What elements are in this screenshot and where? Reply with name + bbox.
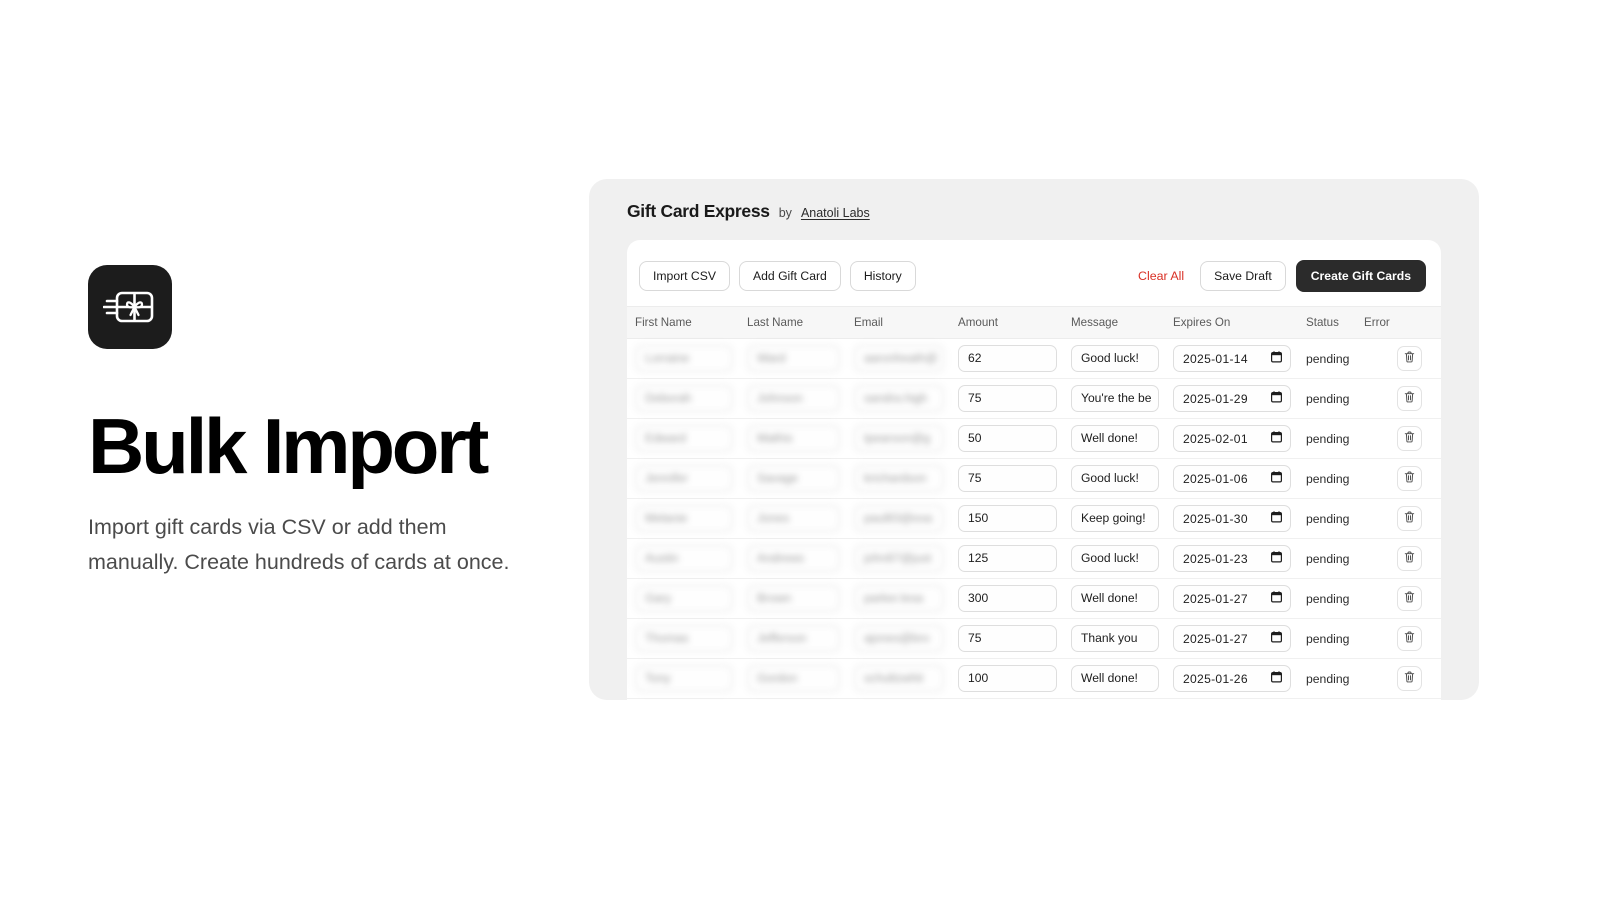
status-badge: pending xyxy=(1306,392,1349,406)
table-row: Lorraine Ward aaronheath@ 62 Good luck! … xyxy=(627,339,1441,379)
cell-message: You're the be xyxy=(1063,379,1165,419)
clear-all-button[interactable]: Clear All xyxy=(1132,262,1190,290)
last-name-input[interactable]: Jones xyxy=(747,505,840,532)
email-input[interactable]: tpearson@g xyxy=(854,425,944,452)
cell-message: Well done! xyxy=(1063,419,1165,459)
cell-error xyxy=(1356,579,1441,619)
email-input[interactable]: schultzwhit xyxy=(854,665,944,692)
cell-last-name: Ward xyxy=(739,339,846,379)
column-header-error: Error xyxy=(1356,307,1441,339)
expires-on-value: 2025-01-06 xyxy=(1183,472,1248,486)
email-input[interactable]: aaronheath@ xyxy=(854,345,944,372)
cell-amount: 75 xyxy=(950,459,1063,499)
last-name-input[interactable]: Brown xyxy=(747,585,840,612)
cell-expires-on: 2025-01-27 xyxy=(1165,579,1298,619)
cell-message: Thank you xyxy=(1063,619,1165,659)
expires-on-date-input[interactable]: 2025-01-06 xyxy=(1173,465,1291,492)
delete-row-button[interactable] xyxy=(1397,466,1422,491)
gift-card-panel: Import CSV Add Gift Card History Clear A… xyxy=(627,240,1441,700)
cell-first-name: Jennifer xyxy=(627,459,739,499)
message-input[interactable]: Well done! xyxy=(1071,425,1159,452)
first-name-input[interactable]: Thomas xyxy=(635,625,733,652)
cell-error xyxy=(1356,339,1441,379)
email-input[interactable]: john87@just xyxy=(854,545,944,572)
first-name-input[interactable]: Lorraine xyxy=(635,345,733,372)
table-body: Lorraine Ward aaronheath@ 62 Good luck! … xyxy=(627,339,1441,699)
message-input[interactable]: Good luck! xyxy=(1071,465,1159,492)
add-gift-card-button[interactable]: Add Gift Card xyxy=(739,261,841,291)
app-by-label: by xyxy=(779,206,792,220)
trash-icon xyxy=(1404,390,1415,408)
delete-row-button[interactable] xyxy=(1397,506,1422,531)
toolbar-left-group: Import CSV Add Gift Card History xyxy=(639,261,916,291)
expires-on-date-input[interactable]: 2025-01-30 xyxy=(1173,505,1291,532)
cell-status: pending xyxy=(1298,579,1356,619)
table-header-row: First Name Last Name Email Amount Messag… xyxy=(627,307,1441,339)
cell-expires-on: 2025-01-23 xyxy=(1165,539,1298,579)
trash-icon xyxy=(1404,510,1415,528)
cell-first-name: Lorraine xyxy=(627,339,739,379)
cell-last-name: Mathis xyxy=(739,419,846,459)
cell-expires-on: 2025-02-01 xyxy=(1165,419,1298,459)
cell-error xyxy=(1356,659,1441,699)
expires-on-date-input[interactable]: 2025-01-27 xyxy=(1173,625,1291,652)
cell-amount: 150 xyxy=(950,499,1063,539)
cell-email: tpearson@g xyxy=(846,419,950,459)
expires-on-date-input[interactable]: 2025-01-27 xyxy=(1173,585,1291,612)
cell-message: Good luck! xyxy=(1063,459,1165,499)
calendar-icon[interactable] xyxy=(1271,431,1282,446)
toolbar-right-group: Clear All Save Draft Create Gift Cards xyxy=(1132,260,1426,292)
status-badge: pending xyxy=(1306,552,1349,566)
delete-row-button[interactable] xyxy=(1397,346,1422,371)
cell-last-name: Johnson xyxy=(739,379,846,419)
cell-message: Well done! xyxy=(1063,659,1165,699)
delete-row-button[interactable] xyxy=(1397,386,1422,411)
delete-row-button[interactable] xyxy=(1397,626,1422,651)
column-header-email: Email xyxy=(846,307,950,339)
expires-on-value: 2025-01-23 xyxy=(1183,552,1248,566)
cell-status: pending xyxy=(1298,379,1356,419)
trash-icon xyxy=(1404,350,1415,368)
page-description: Import gift cards via CSV or add them ma… xyxy=(88,510,518,580)
cell-amount: 75 xyxy=(950,379,1063,419)
import-csv-button[interactable]: Import CSV xyxy=(639,261,730,291)
cell-email: john87@just xyxy=(846,539,950,579)
status-badge: pending xyxy=(1306,632,1349,646)
cell-expires-on: 2025-01-14 xyxy=(1165,339,1298,379)
message-input[interactable]: Thank you xyxy=(1071,625,1159,652)
cell-first-name: Thomas xyxy=(627,619,739,659)
expires-on-value: 2025-01-29 xyxy=(1183,392,1248,406)
cell-message: Good luck! xyxy=(1063,539,1165,579)
last-name-input[interactable]: Andrews xyxy=(747,545,840,572)
amount-input[interactable]: 125 xyxy=(958,545,1057,572)
cell-status: pending xyxy=(1298,339,1356,379)
calendar-icon[interactable] xyxy=(1271,391,1282,406)
email-input[interactable]: sandra.high xyxy=(854,385,944,412)
table-row: Edward Mathis tpearson@g 50 Well done! 2… xyxy=(627,419,1441,459)
message-input[interactable]: Good luck! xyxy=(1071,345,1159,372)
cell-status: pending xyxy=(1298,419,1356,459)
history-button[interactable]: History xyxy=(850,261,916,291)
calendar-icon[interactable] xyxy=(1271,511,1282,526)
save-draft-button[interactable]: Save Draft xyxy=(1200,261,1286,291)
table-row: Jennifer Savage krichardson 75 Good luck… xyxy=(627,459,1441,499)
calendar-icon[interactable] xyxy=(1271,471,1282,486)
message-input[interactable]: You're the be xyxy=(1071,385,1159,412)
cell-amount: 50 xyxy=(950,419,1063,459)
last-name-input[interactable]: Jefferson xyxy=(747,625,840,652)
message-input[interactable]: Well done! xyxy=(1071,665,1159,692)
amount-input[interactable]: 100 xyxy=(958,665,1057,692)
last-name-input[interactable]: Johnson xyxy=(747,385,840,412)
last-name-input[interactable]: Gordon xyxy=(747,665,840,692)
status-badge: pending xyxy=(1306,352,1349,366)
cell-status: pending xyxy=(1298,459,1356,499)
trash-icon xyxy=(1404,430,1415,448)
email-input[interactable]: ajones@bro xyxy=(854,625,944,652)
amount-input[interactable]: 75 xyxy=(958,385,1057,412)
table-row: Tony Gordon schultzwhit 100 Well done! 2… xyxy=(627,659,1441,699)
table-header: First Name Last Name Email Amount Messag… xyxy=(627,307,1441,339)
table-row: Deborah Johnson sandra.high 75 You're th… xyxy=(627,379,1441,419)
cell-last-name: Brown xyxy=(739,579,846,619)
app-header: Gift Card Express by Anatoli Labs xyxy=(589,179,1479,239)
cell-email: sandra.high xyxy=(846,379,950,419)
column-header-amount: Amount xyxy=(950,307,1063,339)
last-name-input[interactable]: Savage xyxy=(747,465,840,492)
app-window: Gift Card Express by Anatoli Labs Import… xyxy=(589,179,1479,700)
first-name-input[interactable]: Gary xyxy=(635,585,733,612)
calendar-icon[interactable] xyxy=(1271,351,1282,366)
amount-input[interactable]: 62 xyxy=(958,345,1057,372)
cell-first-name: Tony xyxy=(627,659,739,699)
delete-row-button[interactable] xyxy=(1397,546,1422,571)
email-input[interactable]: krichardson xyxy=(854,465,944,492)
cell-last-name: Savage xyxy=(739,459,846,499)
trash-icon xyxy=(1404,670,1415,688)
cell-first-name: Gary xyxy=(627,579,739,619)
expires-on-value: 2025-02-01 xyxy=(1183,432,1248,446)
cell-email: aaronheath@ xyxy=(846,339,950,379)
cell-email: schultzwhit xyxy=(846,659,950,699)
cell-first-name: Deborah xyxy=(627,379,739,419)
column-header-last-name: Last Name xyxy=(739,307,846,339)
create-gift-cards-button[interactable]: Create Gift Cards xyxy=(1296,260,1426,292)
first-name-input[interactable]: Tony xyxy=(635,665,733,692)
cell-message: Good luck! xyxy=(1063,339,1165,379)
expires-on-date-input[interactable]: 2025-01-23 xyxy=(1173,545,1291,572)
cell-status: pending xyxy=(1298,659,1356,699)
status-badge: pending xyxy=(1306,432,1349,446)
cell-email: ajones@bro xyxy=(846,619,950,659)
expires-on-value: 2025-01-27 xyxy=(1183,592,1248,606)
trash-icon xyxy=(1404,590,1415,608)
amount-input[interactable]: 75 xyxy=(958,625,1057,652)
panel-toolbar: Import CSV Add Gift Card History Clear A… xyxy=(627,240,1441,306)
cell-first-name: Melanie xyxy=(627,499,739,539)
trash-icon xyxy=(1404,470,1415,488)
expires-on-value: 2025-01-30 xyxy=(1183,512,1248,526)
message-input[interactable]: Well done! xyxy=(1071,585,1159,612)
amount-input[interactable]: 300 xyxy=(958,585,1057,612)
column-header-message: Message xyxy=(1063,307,1165,339)
cell-email: parker.lesa xyxy=(846,579,950,619)
page-title: Bulk Import xyxy=(88,409,558,484)
first-name-input[interactable]: Melanie xyxy=(635,505,733,532)
expires-on-value: 2025-01-14 xyxy=(1183,352,1248,366)
column-header-first-name: First Name xyxy=(627,307,739,339)
gift-card-icon xyxy=(88,265,172,349)
cell-error xyxy=(1356,419,1441,459)
cell-last-name: Jefferson xyxy=(739,619,846,659)
hero-section: Bulk Import Import gift cards via CSV or… xyxy=(88,265,558,580)
expires-on-value: 2025-01-26 xyxy=(1183,672,1248,686)
cell-error xyxy=(1356,459,1441,499)
expires-on-date-input[interactable]: 2025-01-14 xyxy=(1173,345,1291,372)
message-input[interactable]: Keep going! xyxy=(1071,505,1159,532)
expires-on-date-input[interactable]: 2025-02-01 xyxy=(1173,425,1291,452)
gift-cards-table: First Name Last Name Email Amount Messag… xyxy=(627,306,1441,699)
amount-input[interactable]: 150 xyxy=(958,505,1057,532)
cell-amount: 100 xyxy=(950,659,1063,699)
calendar-icon[interactable] xyxy=(1271,671,1282,686)
status-badge: pending xyxy=(1306,472,1349,486)
amount-input[interactable]: 50 xyxy=(958,425,1057,452)
email-input[interactable]: parker.lesa xyxy=(854,585,944,612)
trash-icon xyxy=(1404,550,1415,568)
cell-expires-on: 2025-01-06 xyxy=(1165,459,1298,499)
last-name-input[interactable]: Mathis xyxy=(747,425,840,452)
cell-error xyxy=(1356,619,1441,659)
cell-expires-on: 2025-01-29 xyxy=(1165,379,1298,419)
expires-on-date-input[interactable]: 2025-01-26 xyxy=(1173,665,1291,692)
cell-status: pending xyxy=(1298,619,1356,659)
cell-last-name: Andrews xyxy=(739,539,846,579)
cell-error xyxy=(1356,539,1441,579)
delete-row-button[interactable] xyxy=(1397,666,1422,691)
cell-email: paul83@exa xyxy=(846,499,950,539)
cell-message: Well done! xyxy=(1063,579,1165,619)
expires-on-value: 2025-01-27 xyxy=(1183,632,1248,646)
last-name-input[interactable]: Ward xyxy=(747,345,840,372)
page-root: Bulk Import Import gift cards via CSV or… xyxy=(0,0,1600,900)
app-name: Gift Card Express xyxy=(627,201,770,222)
cell-message: Keep going! xyxy=(1063,499,1165,539)
calendar-icon[interactable] xyxy=(1271,591,1282,606)
cell-first-name: Austin xyxy=(627,539,739,579)
cell-expires-on: 2025-01-30 xyxy=(1165,499,1298,539)
column-header-status: Status xyxy=(1298,307,1356,339)
message-input[interactable]: Good luck! xyxy=(1071,545,1159,572)
column-header-expires-on: Expires On xyxy=(1165,307,1298,339)
status-badge: pending xyxy=(1306,512,1349,526)
delete-row-button[interactable] xyxy=(1397,586,1422,611)
cell-amount: 125 xyxy=(950,539,1063,579)
cell-amount: 75 xyxy=(950,619,1063,659)
first-name-input[interactable]: Edward xyxy=(635,425,733,452)
cell-expires-on: 2025-01-27 xyxy=(1165,619,1298,659)
first-name-input[interactable]: Austin xyxy=(635,545,733,572)
app-vendor-link[interactable]: Anatoli Labs xyxy=(801,206,870,220)
expires-on-date-input[interactable]: 2025-01-29 xyxy=(1173,385,1291,412)
cell-status: pending xyxy=(1298,499,1356,539)
cell-expires-on: 2025-01-26 xyxy=(1165,659,1298,699)
cell-error xyxy=(1356,379,1441,419)
table-row: Gary Brown parker.lesa 300 Well done! 20… xyxy=(627,579,1441,619)
calendar-icon[interactable] xyxy=(1271,551,1282,566)
table-row: Austin Andrews john87@just 125 Good luck… xyxy=(627,539,1441,579)
delete-row-button[interactable] xyxy=(1397,426,1422,451)
calendar-icon[interactable] xyxy=(1271,631,1282,646)
email-input[interactable]: paul83@exa xyxy=(854,505,944,532)
first-name-input[interactable]: Deborah xyxy=(635,385,733,412)
cell-last-name: Jones xyxy=(739,499,846,539)
table-row: Thomas Jefferson ajones@bro 75 Thank you… xyxy=(627,619,1441,659)
cell-status: pending xyxy=(1298,539,1356,579)
cell-amount: 300 xyxy=(950,579,1063,619)
table-row: Melanie Jones paul83@exa 150 Keep going!… xyxy=(627,499,1441,539)
status-badge: pending xyxy=(1306,672,1349,686)
status-badge: pending xyxy=(1306,592,1349,606)
cell-last-name: Gordon xyxy=(739,659,846,699)
cell-error xyxy=(1356,499,1441,539)
amount-input[interactable]: 75 xyxy=(958,465,1057,492)
trash-icon xyxy=(1404,630,1415,648)
cell-amount: 62 xyxy=(950,339,1063,379)
first-name-input[interactable]: Jennifer xyxy=(635,465,733,492)
cell-first-name: Edward xyxy=(627,419,739,459)
cell-email: krichardson xyxy=(846,459,950,499)
